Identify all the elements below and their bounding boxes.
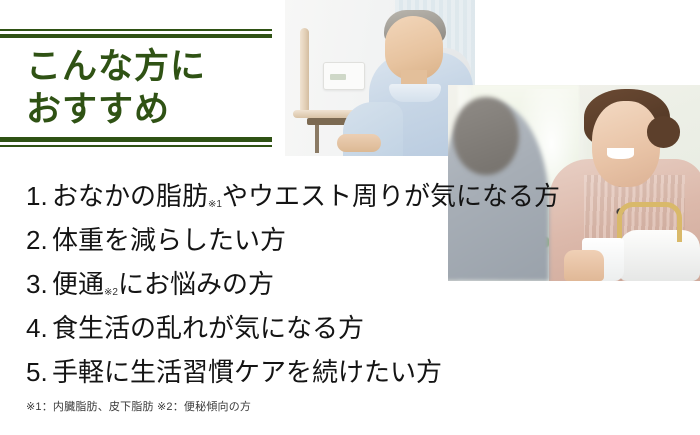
list-item-text: おなかの脂肪 xyxy=(52,183,208,209)
footnote-text: ※1：内臓脂肪、皮下脂肪 ※2：便秘傾向の方 xyxy=(26,398,251,414)
list-item: 2.体重を減らしたい方 xyxy=(26,218,676,262)
list-item-number: 2. xyxy=(26,227,52,253)
photo-woman-hair-bun xyxy=(647,116,680,147)
photo-man-control-panel xyxy=(323,62,365,90)
list-item-number: 4. xyxy=(26,315,52,341)
heading-rule-bottom-thin xyxy=(0,145,272,147)
list-item-text: 手軽に生活習慣ケアを続けたい方 xyxy=(52,359,442,385)
list-item: 1.おなかの脂肪※1やウエスト周りが気になる方 xyxy=(26,174,676,218)
photo-man-hands xyxy=(337,134,381,152)
list-item-text: 便通 xyxy=(52,271,104,297)
list-item-footnote-mark: ※2 xyxy=(104,288,118,298)
photo-man-bench-leg xyxy=(315,125,319,153)
heading-block: こんな方に おすすめ xyxy=(0,29,272,147)
photo-woman-foreground-person-head xyxy=(453,97,519,175)
list-item-text: 体重を減らしたい方 xyxy=(52,227,286,253)
promotional-banner: こんな方に おすすめ 1.おなかの脂肪※1やウエスト周りが気になる方 2.体重を… xyxy=(0,0,700,435)
photo-man-grab-bar-vertical xyxy=(300,28,309,114)
page-title: こんな方に おすすめ xyxy=(0,38,272,137)
list-item-text: 食生活の乱れが気になる方 xyxy=(52,315,364,341)
list-item: 5.手軽に生活習慣ケアを続けたい方 xyxy=(26,350,676,394)
photo-woman-smile xyxy=(607,148,635,160)
list-item-text-continued: やウエスト周りが気になる方 xyxy=(222,183,560,209)
list-item-number: 1. xyxy=(26,183,52,209)
photo-man-shirt-collar xyxy=(389,84,441,102)
list-item-number: 3. xyxy=(26,271,52,297)
list-item: 4.食生活の乱れが気になる方 xyxy=(26,306,676,350)
list-item-text-continued: にお悩みの方 xyxy=(118,271,274,297)
list-item: 3.便通※2にお悩みの方 xyxy=(26,262,676,306)
list-item-number: 5. xyxy=(26,359,52,385)
photo-elderly-man xyxy=(285,0,475,156)
recommendation-list: 1.おなかの脂肪※1やウエスト周りが気になる方 2.体重を減らしたい方 3.便通… xyxy=(26,174,676,394)
list-item-footnote-mark: ※1 xyxy=(208,200,222,210)
